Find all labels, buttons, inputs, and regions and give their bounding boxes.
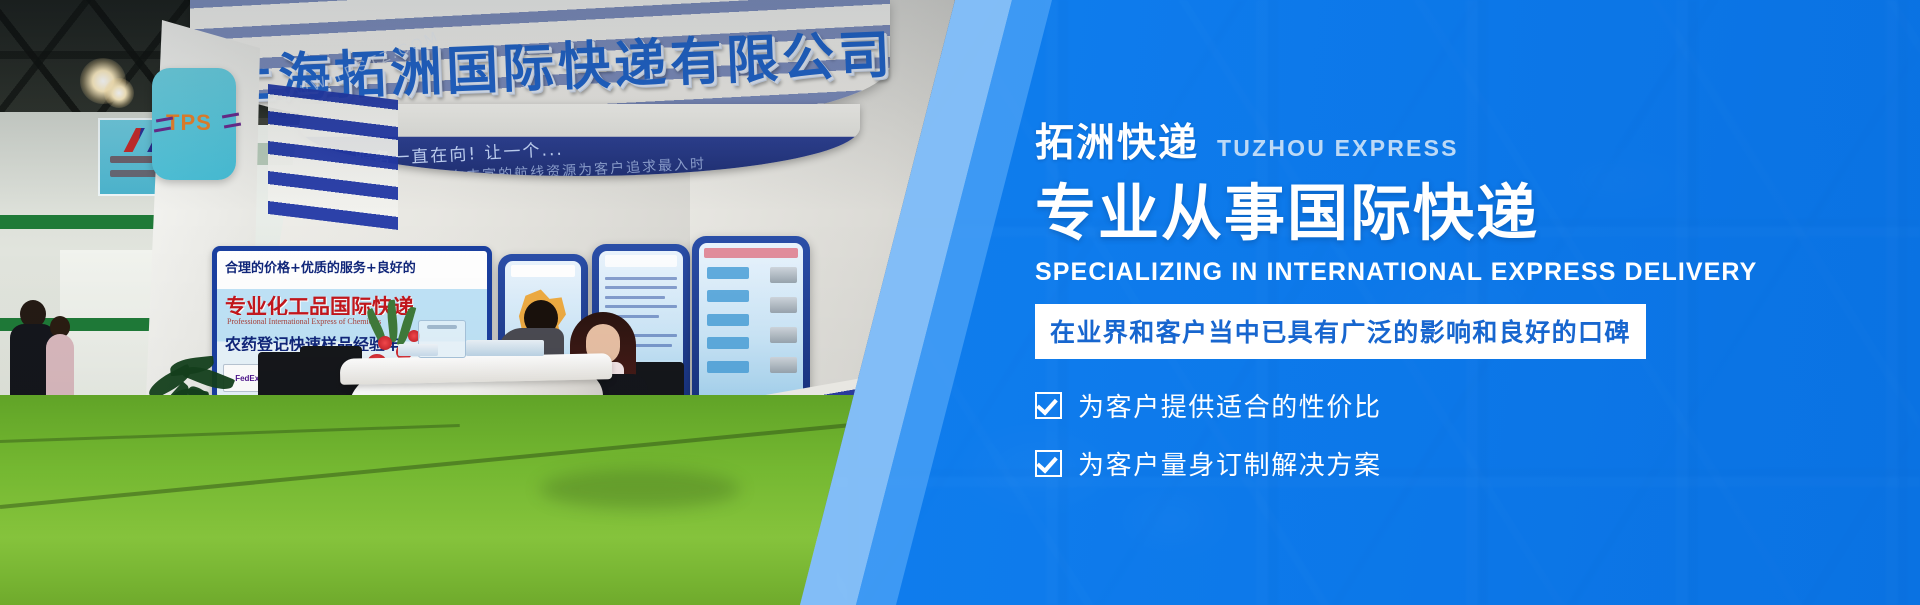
tagline-text: 在业界和客户当中已具有广泛的影响和良好的口碑 xyxy=(1050,318,1631,347)
feature-bullet-item: 为客户提供适合的性价比 xyxy=(1035,387,1875,424)
feature-bullet-label: 为客户量身订制解决方案 xyxy=(1078,445,1382,482)
brand-row: 拓洲快递 TUZHOU EXPRESS xyxy=(1035,112,1875,168)
feature-bullet-item: 为客户量身订制解决方案 xyxy=(1035,445,1875,482)
brand-name-en: TUZHOU EXPRESS xyxy=(1217,135,1459,162)
checkbox-checked-icon xyxy=(1035,450,1062,477)
feature-bullet-list: 为客户提供适合的性价比 为客户量身订制解决方案 xyxy=(1035,387,1875,482)
hero-banner: 上海拓洲国际快递有限公司 服务一直在向! 让一个... 布丰富的航线资源为客户追… xyxy=(0,0,1920,605)
banner-subtitle-en: SPECIALIZING IN INTERNATIONAL EXPRESS DE… xyxy=(1035,258,1875,287)
banner-headline: 专业从事国际快递 xyxy=(1035,182,1875,246)
tagline-box: 在业界和客户当中已具有广泛的影响和良好的口碑 xyxy=(1035,304,1646,359)
brand-name-cn: 拓洲快递 xyxy=(1035,112,1199,168)
feature-bullet-label: 为客户提供适合的性价比 xyxy=(1078,387,1382,424)
checkbox-checked-icon xyxy=(1035,392,1062,419)
banner-text-content: 拓洲快递 TUZHOU EXPRESS 专业从事国际快递 SPECIALIZIN… xyxy=(1035,112,1875,482)
